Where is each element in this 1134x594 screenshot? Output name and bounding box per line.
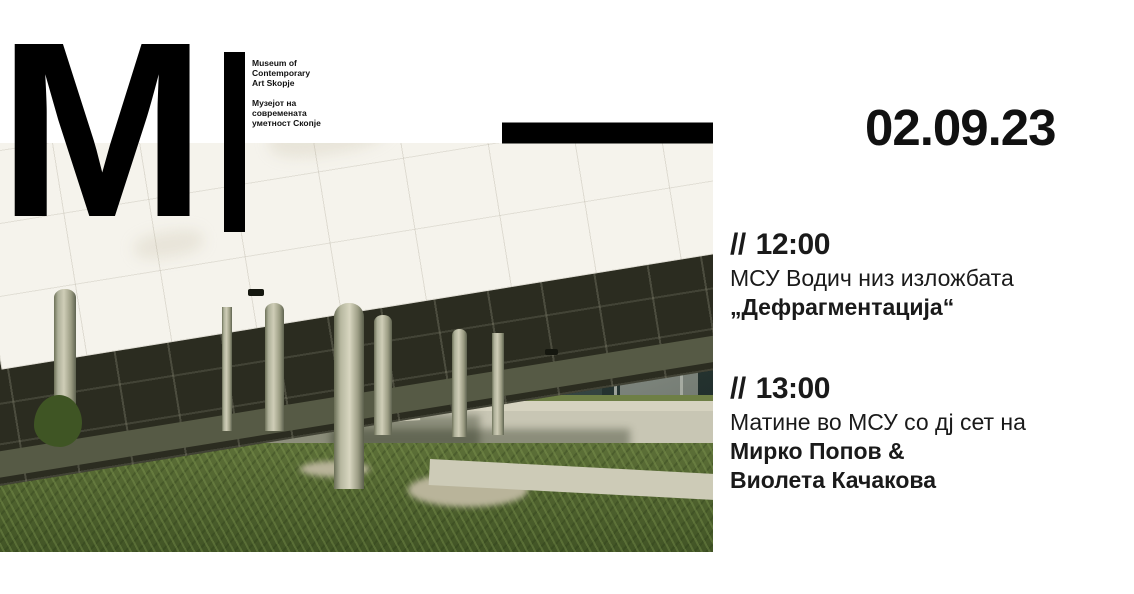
event-line-performer: Виолета Качакова bbox=[730, 466, 1130, 495]
logo-name-en-line1: Museum of bbox=[252, 58, 347, 68]
event-time-marker: // bbox=[730, 372, 746, 405]
event-line-title: „Дефрагментација“ bbox=[730, 293, 1130, 322]
logo-mark-m: M bbox=[0, 30, 200, 230]
photo-column-main bbox=[334, 303, 364, 489]
event-item: //12:00 МСУ Водич низ изложбата „Дефрагм… bbox=[730, 228, 1130, 322]
event-time-row: //13:00 bbox=[730, 372, 1130, 406]
event-line-performer: Мирко Попов & bbox=[730, 437, 1130, 466]
event-time: 12:00 bbox=[756, 228, 830, 261]
event-time: 13:00 bbox=[756, 372, 830, 405]
event-time-row: //12:00 bbox=[730, 228, 1130, 262]
info-panel: 02.09.23 //12:00 МСУ Водич низ изложбата… bbox=[713, 0, 1134, 594]
poster-canvas: M Museum of Contemporary Art Skopje Музе… bbox=[0, 0, 1134, 594]
event-line: Матине во МСУ со дј сет на bbox=[730, 408, 1130, 437]
photo-ceiling-lamp bbox=[545, 349, 558, 355]
logo-name-mk-line3: уметност Скопје bbox=[252, 118, 347, 128]
photo-column bbox=[452, 329, 467, 437]
logo-name-mk-line1: Музејот на bbox=[252, 98, 347, 108]
photo-column bbox=[492, 333, 504, 435]
logo-name-en: Museum of Contemporary Art Skopje bbox=[252, 58, 347, 89]
logo-name-mk-line2: современата bbox=[252, 108, 347, 118]
photo-column bbox=[222, 307, 232, 431]
logo-name-en-line3: Art Skopje bbox=[252, 78, 347, 88]
logo-wordmark: Museum of Contemporary Art Skopje Музејо… bbox=[252, 58, 347, 128]
logo-mark-bar bbox=[224, 52, 245, 232]
photo-ceiling-lamp bbox=[248, 289, 264, 296]
photo-shrub bbox=[34, 395, 82, 447]
logo-name-mk: Музејот на современата уметност Скопје bbox=[252, 98, 347, 129]
event-date: 02.09.23 bbox=[865, 98, 1056, 157]
logo-name-en-line2: Contemporary bbox=[252, 68, 347, 78]
photo-column bbox=[374, 315, 392, 435]
event-item: //13:00 Матине во МСУ со дј сет на Мирко… bbox=[730, 372, 1130, 495]
event-line: МСУ Водич низ изложбата bbox=[730, 264, 1130, 293]
photo-column bbox=[265, 303, 284, 431]
event-time-marker: // bbox=[730, 228, 746, 261]
